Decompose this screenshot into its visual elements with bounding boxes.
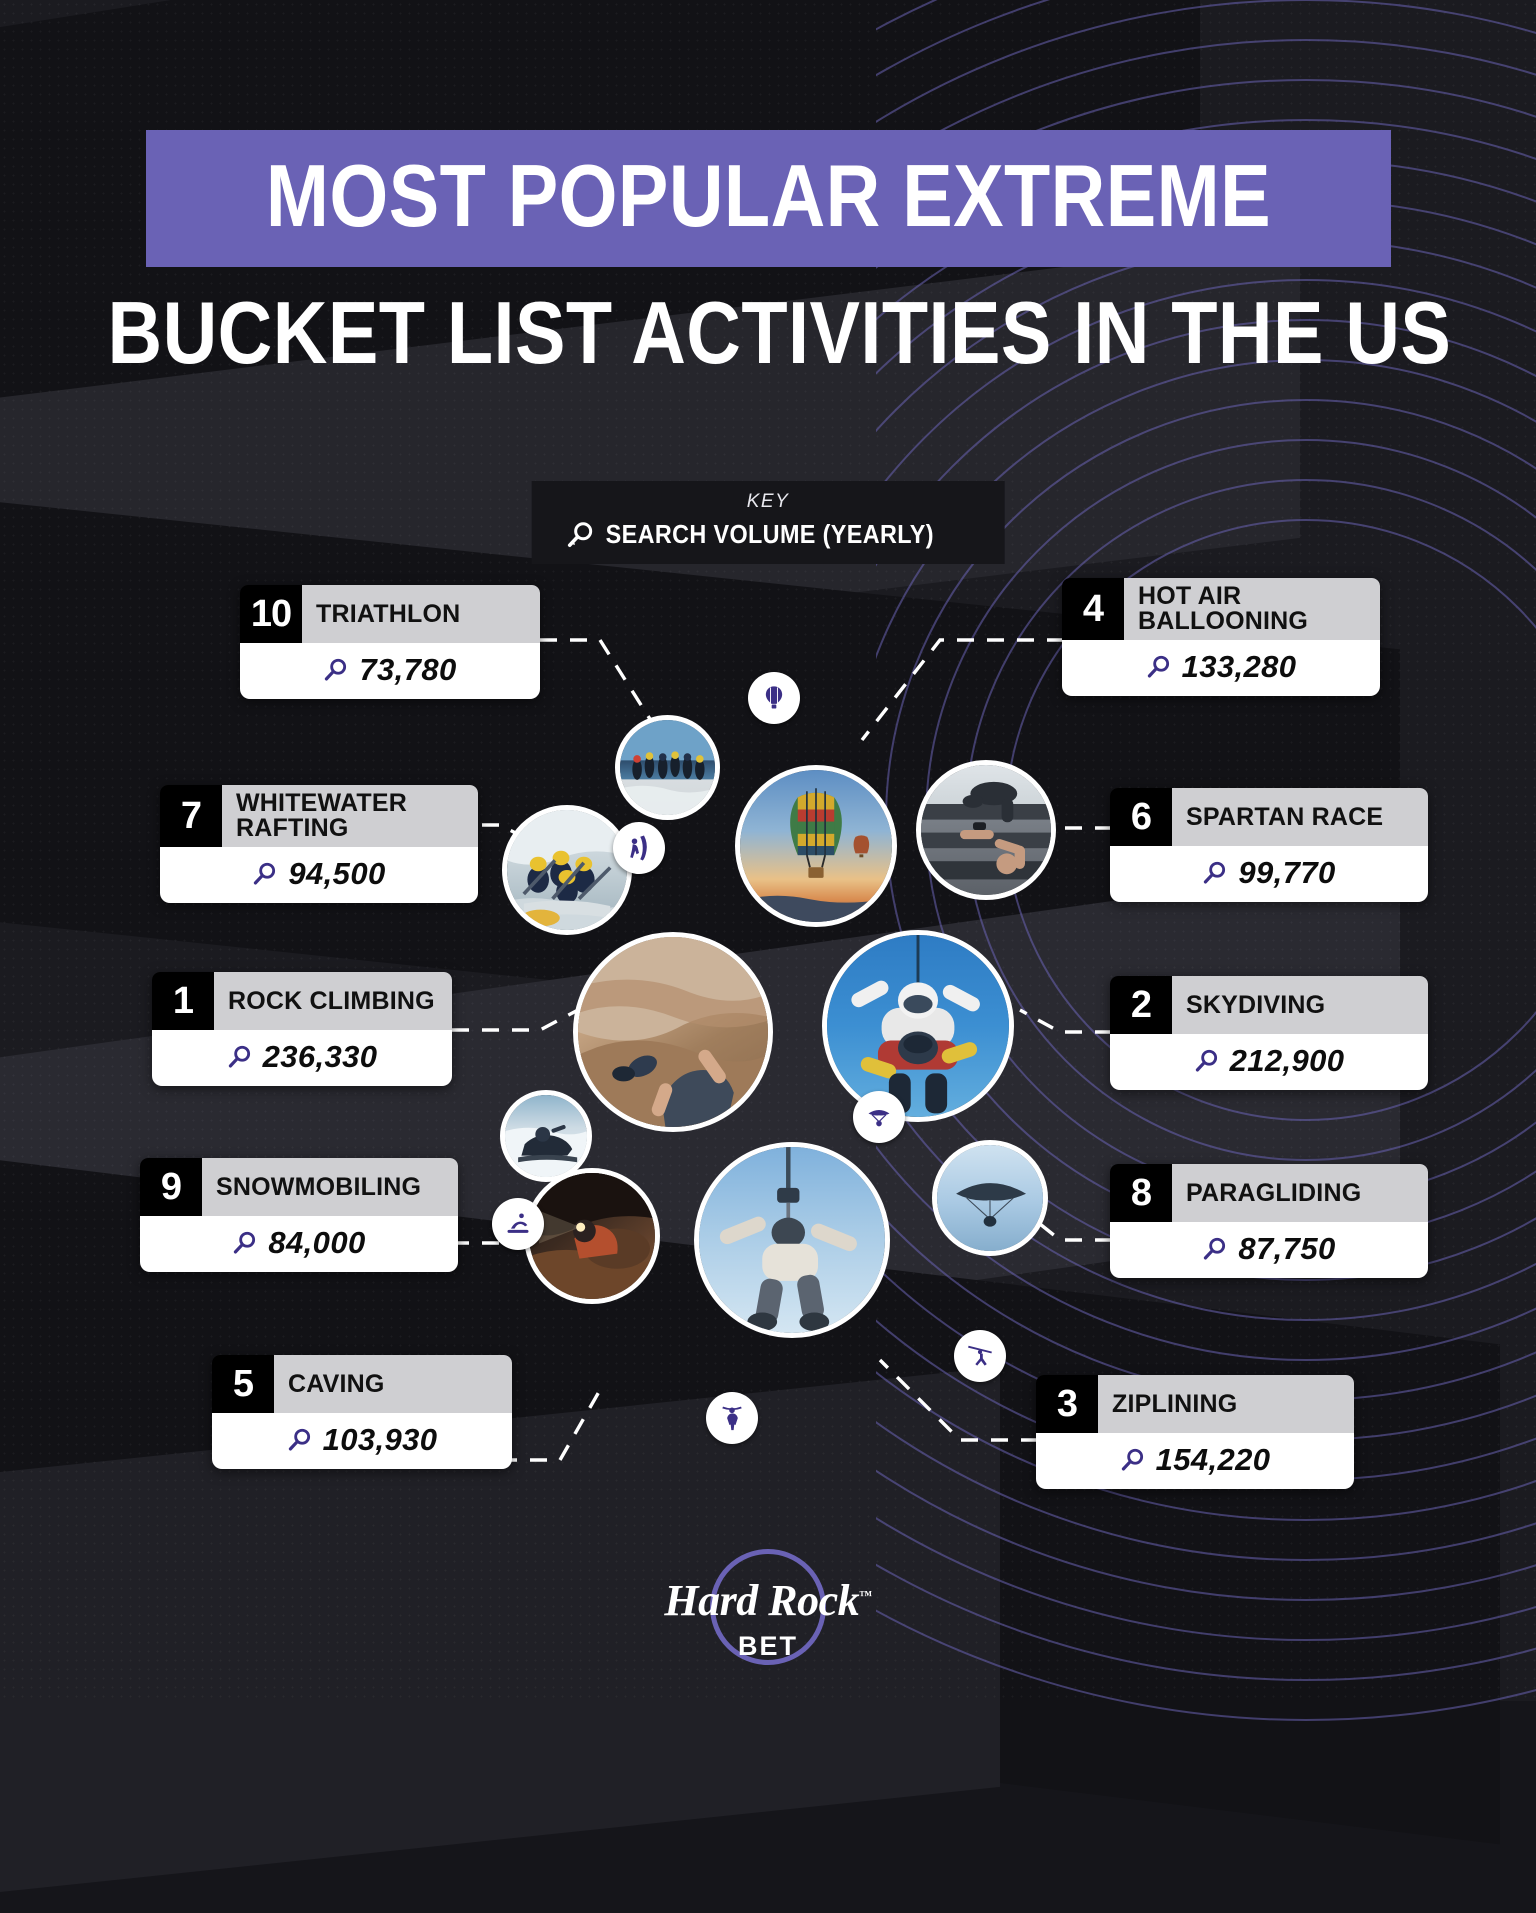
caving-photo [524, 1168, 660, 1304]
activity-name: ROCK CLIMBING [214, 972, 452, 1030]
logo-product: BET [653, 1631, 883, 1662]
search-icon [232, 1230, 258, 1256]
search-volume: 236,330 [263, 1039, 378, 1075]
rank-badge: 6 [1110, 788, 1172, 846]
ziplining-photo [694, 1142, 890, 1338]
rank-badge: 5 [212, 1355, 274, 1413]
search-icon [1194, 1048, 1220, 1074]
search-volume: 94,500 [288, 856, 385, 892]
whitewater-rafting-photo [502, 805, 632, 935]
rank-badge: 7 [160, 785, 222, 847]
activity-name: SNOWMOBILING [202, 1158, 458, 1216]
activity-name: CAVING [274, 1355, 512, 1413]
zipline-icon [954, 1330, 1006, 1382]
search-icon [1202, 1236, 1228, 1262]
activity-name: HOT AIR BALLOONING [1124, 578, 1380, 640]
page-title: MOST POPULAR EXTREME BUCKET LIST ACTIVIT… [0, 130, 1536, 374]
activity-card[interactable]: 1 ROCK CLIMBING 236,330 [152, 972, 452, 1086]
activity-card[interactable]: 9 SNOWMOBILING 84,000 [140, 1158, 458, 1272]
rank-badge: 3 [1036, 1375, 1098, 1433]
activity-card[interactable]: 8 PARAGLIDING 87,750 [1110, 1164, 1428, 1278]
skydiving-photo [822, 930, 1014, 1122]
activity-card[interactable]: 6 SPARTAN RACE 99,770 [1110, 788, 1428, 902]
activity-card[interactable]: 5 CAVING 103,930 [212, 1355, 512, 1469]
activity-name: WHITEWATER RAFTING [222, 785, 478, 847]
key-heading: KEY [566, 491, 971, 513]
rock-climbing-photo [573, 932, 773, 1132]
logo-brand-text: Hard Rock [664, 1576, 859, 1625]
search-volume: 73,780 [359, 652, 456, 688]
triathlon-photo [615, 715, 720, 820]
activity-card[interactable]: 3 ZIPLINING 154,220 [1036, 1375, 1354, 1489]
activity-name: ZIPLINING [1098, 1375, 1354, 1433]
snowmobile-icon [492, 1198, 544, 1250]
search-volume: 87,750 [1238, 1231, 1335, 1267]
title-band: MOST POPULAR EXTREME [146, 130, 1391, 267]
spartan-race-photo [916, 760, 1056, 900]
title-line-2: BUCKET LIST ACTIVITIES IN THE US [108, 293, 1429, 374]
key-metric-label: SEARCH VOLUME (YEARLY) [606, 519, 934, 550]
rank-badge: 2 [1110, 976, 1172, 1034]
rank-badge: 8 [1110, 1164, 1172, 1222]
search-volume: 99,770 [1238, 855, 1335, 891]
search-icon [287, 1427, 313, 1453]
search-volume: 103,930 [323, 1422, 438, 1458]
activity-card[interactable]: 10 TRIATHLON 73,780 [240, 585, 540, 699]
activity-name: TRIATHLON [302, 585, 540, 643]
hard-rock-bet-logo[interactable]: Hard Rock™ BET [653, 1545, 883, 1675]
hot-air-balloon-photo [735, 765, 897, 927]
activity-name: SKYDIVING [1172, 976, 1428, 1034]
rank-badge: 1 [152, 972, 214, 1030]
activity-name: SPARTAN RACE [1172, 788, 1428, 846]
key-legend: KEY SEARCH VOLUME (YEARLY) [532, 481, 1005, 564]
logo-brand: Hard Rock™ [653, 1575, 883, 1626]
rank-badge: 9 [140, 1158, 202, 1216]
paraglider-icon [853, 1091, 905, 1143]
activity-card[interactable]: 4 HOT AIR BALLOONING 133,280 [1062, 578, 1380, 696]
paragliding-photo [932, 1140, 1048, 1256]
search-icon [1146, 654, 1172, 680]
search-icon [566, 520, 596, 550]
activity-card[interactable]: 7 WHITEWATER RAFTING 94,500 [160, 785, 478, 903]
search-volume: 133,280 [1182, 649, 1297, 685]
search-icon [227, 1044, 253, 1070]
snowmobiling-photo [500, 1090, 592, 1182]
rank-badge: 10 [240, 585, 302, 643]
search-volume: 154,220 [1156, 1442, 1271, 1478]
search-icon [323, 657, 349, 683]
search-volume: 212,900 [1230, 1043, 1345, 1079]
activity-card[interactable]: 2 SKYDIVING 212,900 [1110, 976, 1428, 1090]
caving-icon [706, 1392, 758, 1444]
search-icon [1120, 1447, 1146, 1473]
search-icon [1202, 860, 1228, 886]
hot-air-balloon-icon [748, 672, 800, 724]
rank-badge: 4 [1062, 578, 1124, 640]
rock-climbing-icon [613, 822, 665, 874]
title-line-1: MOST POPULAR EXTREME [233, 156, 1304, 237]
activity-name: PARAGLIDING [1172, 1164, 1428, 1222]
trademark-symbol: ™ [859, 1587, 872, 1602]
search-volume: 84,000 [268, 1225, 365, 1261]
search-icon [252, 861, 278, 887]
